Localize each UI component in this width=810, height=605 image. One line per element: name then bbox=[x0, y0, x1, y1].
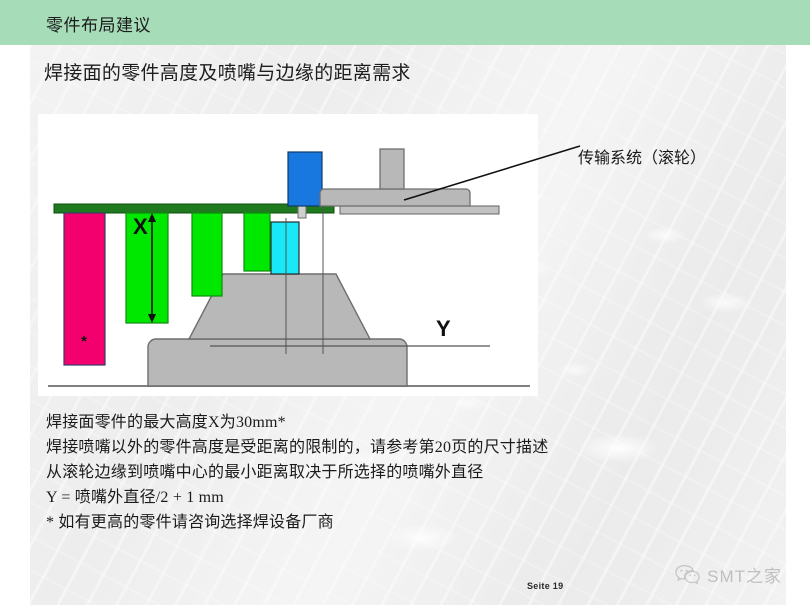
dimension-x-label: X bbox=[133, 214, 148, 239]
component-green-3 bbox=[244, 213, 270, 271]
wechat-icon bbox=[675, 564, 701, 586]
clearance-diagram-svg: * X Y bbox=[38, 114, 538, 396]
component-green-2 bbox=[192, 213, 222, 296]
roller-base bbox=[320, 189, 470, 206]
roller-post bbox=[380, 149, 404, 189]
body-line-4: Y = 喷嘴外直径/2 + 1 mm bbox=[46, 485, 646, 510]
right-page-margin bbox=[786, 45, 810, 605]
body-line-3: 从滚轮边缘到喷嘴中心的最小距离取决于所选择的喷嘴外直径 bbox=[46, 460, 646, 485]
solder-nozzle bbox=[271, 222, 299, 274]
header-title: 零件布局建议 bbox=[46, 11, 151, 36]
watermark-text: SMT之家 bbox=[707, 562, 782, 587]
watermark: SMT之家 bbox=[675, 562, 782, 587]
page-number: Seite 19 bbox=[527, 581, 563, 591]
body-text-block: 焊接面零件的最大高度X为30mm* 焊接喷嘴以外的零件高度是受距离的限制的，请参… bbox=[46, 410, 646, 535]
body-line-2: 焊接喷嘴以外的零件高度是受距离的限制的，请参考第20页的尺寸描述 bbox=[46, 435, 646, 460]
roller-flange bbox=[340, 206, 499, 214]
footnote-asterisk-marker: * bbox=[81, 333, 87, 350]
body-line-5: * 如有更高的零件请咨询选择焊设备厂商 bbox=[46, 510, 646, 535]
pcb-pad bbox=[298, 206, 306, 218]
callout-label-transport-system: 传输系统（滚轮） bbox=[578, 144, 706, 168]
slide-canvas: 零件布局建议 焊接面的零件高度及喷嘴与边缘的距离需求 * bbox=[0, 0, 810, 605]
dimension-y-label: Y bbox=[436, 316, 451, 341]
body-line-1: 焊接面零件的最大高度X为30mm* bbox=[46, 410, 646, 435]
diagram-panel: * X Y bbox=[38, 114, 538, 396]
page-title: 焊接面的零件高度及喷嘴与边缘的距离需求 bbox=[44, 58, 411, 85]
component-blue-top bbox=[288, 152, 322, 206]
left-page-margin bbox=[0, 45, 30, 605]
